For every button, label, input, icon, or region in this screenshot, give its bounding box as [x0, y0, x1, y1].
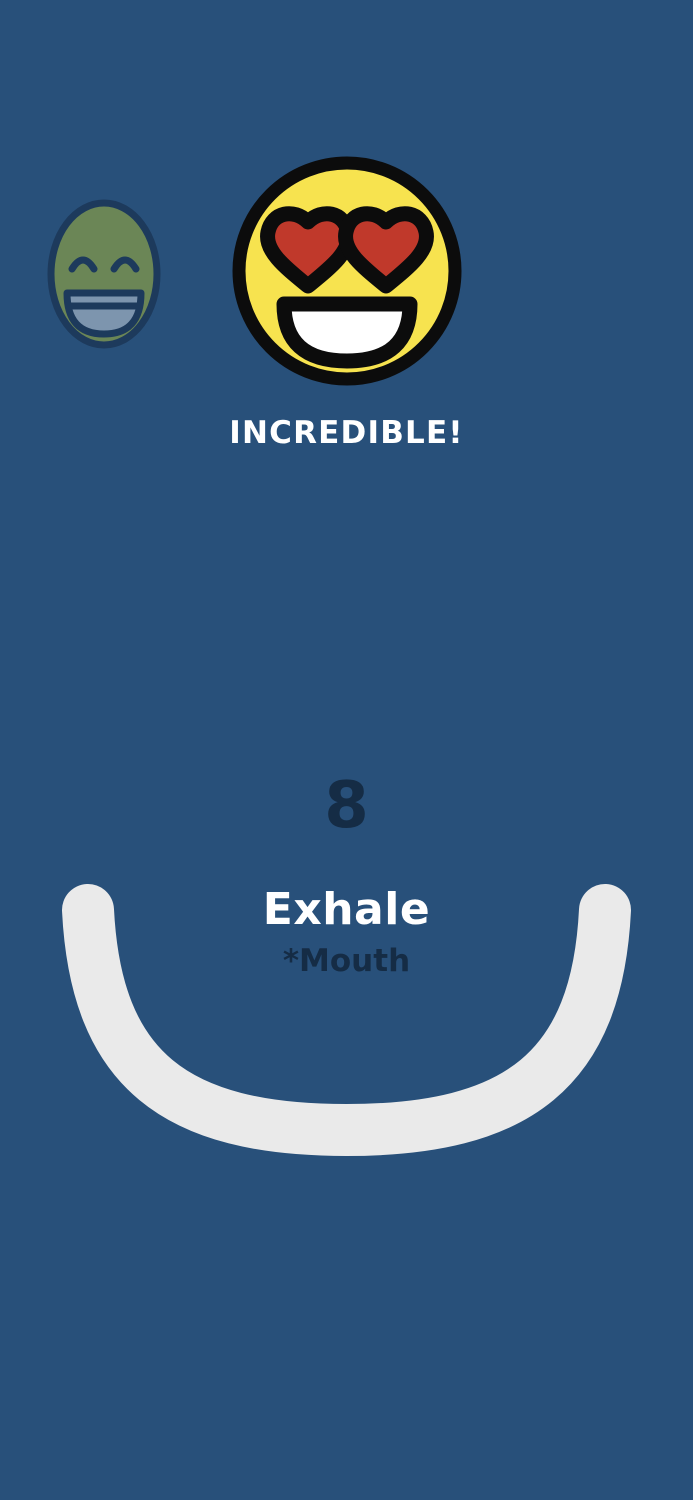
heart-eyes-smiling-face-icon — [232, 156, 462, 386]
grinning-face-with-smiling-eyes-icon — [46, 198, 162, 350]
breathing-exercise-screen: INCREDIBLE! 8 Exhale *Mouth — [0, 0, 693, 1500]
emoji-progress-row — [0, 0, 693, 400]
phase-hint: *Mouth — [0, 940, 693, 982]
phase-block: Exhale *Mouth — [0, 884, 693, 982]
feedback-label: INCREDIBLE! — [0, 415, 693, 451]
breath-count: 8 — [0, 770, 693, 842]
phase-title: Exhale — [0, 884, 693, 936]
